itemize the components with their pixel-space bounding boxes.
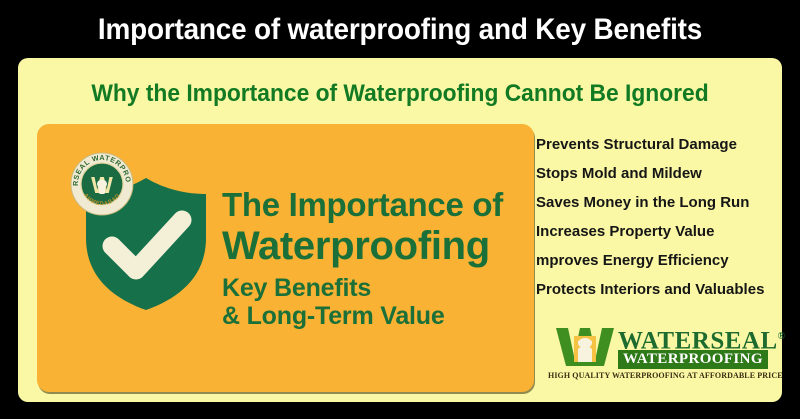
circular-seal-badge-icon: WATERSEAL WATERPROOFING AHMEDABAD W (70, 152, 134, 216)
card-subtitle-line2: & Long-Term Value (222, 302, 527, 330)
page-title: Importance of waterproofing and Key Bene… (28, 13, 772, 47)
card-text-block: The Importance of Waterproofing Key Bene… (222, 186, 527, 330)
list-item: mproves Energy Efficiency (536, 246, 776, 275)
logo-tagline: HIGH QUALITY WATERPROOFING AT AFFORDABLE… (548, 371, 768, 380)
logo-subword-text: WATERPROOFING (623, 351, 763, 368)
feature-card: WATERSEAL WATERPROOFING AHMEDABAD W The … (37, 124, 534, 392)
logo-wordmark: WATERSEAL® (618, 324, 786, 353)
content-panel: Why the Importance of Waterproofing Cann… (18, 58, 782, 402)
panel-heading: Why the Importance of Waterproofing Cann… (37, 80, 763, 108)
list-item: Prevents Structural Damage (536, 130, 776, 159)
registered-trademark-icon: ® (778, 331, 786, 342)
logo-subword-bar: WATERPROOFING (618, 350, 768, 369)
list-item: Increases Property Value (536, 217, 776, 246)
card-subtitle-line1: Key Benefits (222, 274, 527, 302)
list-item: Saves Money in the Long Run (536, 188, 776, 217)
w-worker-logo-icon (554, 326, 616, 368)
card-title-line2: Waterproofing (222, 224, 527, 268)
card-title-line1: The Importance of (222, 186, 527, 224)
benefits-list: Prevents Structural Damage Stops Mold an… (536, 130, 776, 304)
brand-logo: WATERSEAL® WATERPROOFING HIGH QUALITY WA… (534, 324, 774, 382)
list-item: Stops Mold and Mildew (536, 159, 776, 188)
list-item: Protects Interiors and Valuables (536, 275, 776, 304)
poster-canvas: Importance of waterproofing and Key Bene… (0, 0, 800, 419)
